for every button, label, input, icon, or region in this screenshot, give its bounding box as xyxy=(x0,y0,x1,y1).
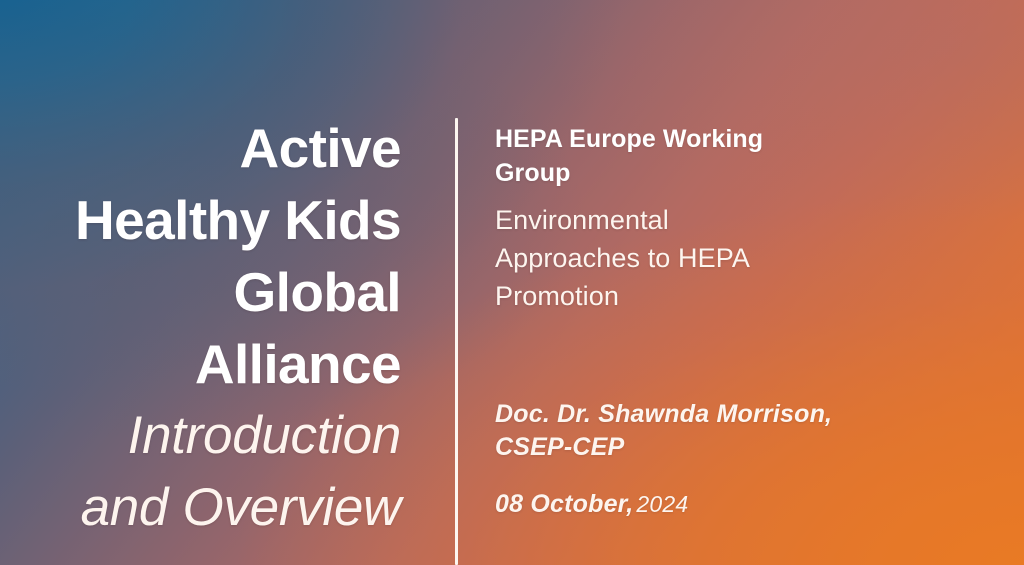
slide-content: Active Healthy Kids Global Alliance Intr… xyxy=(0,0,1024,565)
working-group-title: HEPA Europe Working Group xyxy=(495,122,915,190)
column-divider xyxy=(455,118,458,565)
organization-title: Active Healthy Kids Global Alliance xyxy=(0,112,401,400)
presenter-name: Doc. Dr. Shawnda Morrison, CSEP-CEP xyxy=(495,398,915,464)
section-subtitle: Introduction and Overview xyxy=(0,400,401,544)
presentation-date-year: 2024 xyxy=(633,491,688,517)
presenter-block: Doc. Dr. Shawnda Morrison, CSEP-CEP 08 O… xyxy=(495,398,915,521)
working-group-topic: Environmental Approaches to HEPA Promoti… xyxy=(495,201,915,315)
title-slide: Active Healthy Kids Global Alliance Intr… xyxy=(0,0,1024,565)
right-column: HEPA Europe Working Group Environmental … xyxy=(495,122,915,315)
presentation-date-main: 08 October, xyxy=(495,490,633,518)
left-column: Active Healthy Kids Global Alliance Intr… xyxy=(0,112,401,544)
presentation-date: 08 October,2024 xyxy=(495,488,915,521)
